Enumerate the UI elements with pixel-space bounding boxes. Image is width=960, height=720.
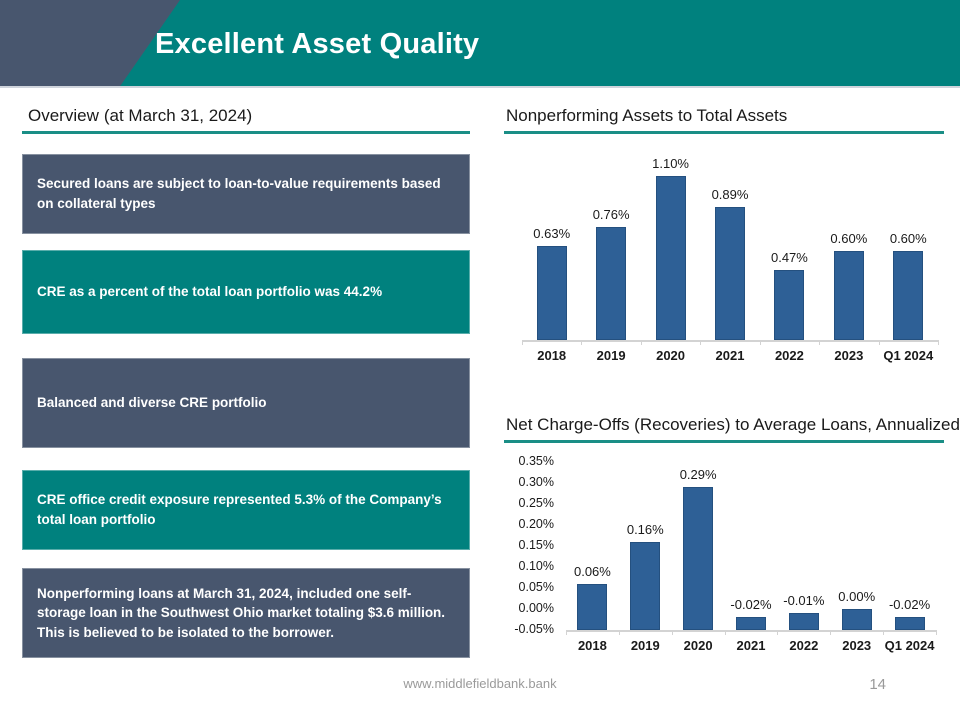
x-axis-category-label: Q1 2024 xyxy=(872,638,948,653)
bar xyxy=(736,617,766,630)
overview-box-5: Nonperforming loans at March 31, 2024, i… xyxy=(22,568,470,658)
npa-chart: 0.63%20180.76%20191.10%20200.89%20210.47… xyxy=(504,140,948,380)
y-axis-tick-label: 0.20% xyxy=(504,517,554,531)
y-axis-tick-label: 0.35% xyxy=(504,454,554,468)
overview-box-1-text: Secured loans are subject to loan-to-val… xyxy=(37,174,455,213)
overview-box-2-text: CRE as a percent of the total loan portf… xyxy=(37,282,382,302)
x-axis-line xyxy=(522,340,938,342)
bar xyxy=(895,617,925,630)
nco-chart-title: Net Charge-Offs (Recoveries) to Average … xyxy=(506,415,960,434)
x-axis-category-label: Q1 2024 xyxy=(870,348,946,363)
y-axis-tick-label: 0.10% xyxy=(504,559,554,573)
bar-value-label: 0.60% xyxy=(870,231,946,246)
bar-value-label: 0.06% xyxy=(554,564,630,579)
footer-page-number: 14 xyxy=(869,676,886,693)
slide-header: Excellent Asset Quality xyxy=(0,0,960,88)
slide-canvas: Excellent Asset Quality Overview(at Marc… xyxy=(0,0,960,720)
y-axis-tick-label: 0.15% xyxy=(504,538,554,552)
overview-box-4-text: CRE office credit exposure represented 5… xyxy=(37,490,455,529)
bar-value-label: 0.76% xyxy=(573,207,649,222)
footer-url[interactable]: www.middlefieldbank.bank xyxy=(0,676,960,691)
overview-heading-subtext: (at March 31, 2024) xyxy=(104,106,252,125)
bar xyxy=(834,251,864,340)
npa-chart-rule xyxy=(504,131,944,134)
overview-rule xyxy=(22,131,470,134)
overview-box-4: CRE office credit exposure represented 5… xyxy=(22,470,470,550)
bar-value-label: 0.89% xyxy=(692,187,768,202)
bar xyxy=(683,487,713,630)
x-axis-tick xyxy=(936,630,937,635)
bar-value-label: 0.29% xyxy=(660,467,736,482)
overview-box-5-text: Nonperforming loans at March 31, 2024, i… xyxy=(37,584,455,643)
bar-value-label: 1.10% xyxy=(633,156,709,171)
bar-value-label: -0.02% xyxy=(872,597,948,612)
overview-box-1: Secured loans are subject to loan-to-val… xyxy=(22,154,470,234)
nco-plot-area: 0.35%0.30%0.25%0.20%0.15%0.10%0.05%0.00%… xyxy=(504,450,948,670)
bar xyxy=(715,207,745,340)
y-axis-tick-label: -0.05% xyxy=(504,622,554,636)
header-accent-shape xyxy=(0,0,180,88)
overview-box-3-text: Balanced and diverse CRE portfolio xyxy=(37,393,267,413)
npa-chart-heading: Nonperforming Assets to Total Assets xyxy=(506,106,787,126)
y-axis-tick-label: 0.00% xyxy=(504,601,554,615)
nco-chart-heading: Net Charge-Offs (Recoveries) to Average … xyxy=(506,415,960,435)
bar xyxy=(596,227,626,340)
y-axis-tick-label: 0.05% xyxy=(504,580,554,594)
y-axis-tick-label: 0.25% xyxy=(504,496,554,510)
bar-value-label: 0.16% xyxy=(607,522,683,537)
bar xyxy=(577,584,607,630)
bar xyxy=(789,613,819,630)
slide-title: Excellent Asset Quality xyxy=(155,0,479,88)
bar xyxy=(893,251,923,340)
overview-heading-text: Overview xyxy=(28,106,99,125)
overview-box-2: CRE as a percent of the total loan portf… xyxy=(22,250,470,334)
bar xyxy=(656,176,686,340)
nco-chart: 0.35%0.30%0.25%0.20%0.15%0.10%0.05%0.00%… xyxy=(504,450,948,670)
x-axis-line xyxy=(566,630,936,632)
bar xyxy=(842,609,872,630)
bar-value-label: 0.63% xyxy=(514,226,590,241)
overview-box-3: Balanced and diverse CRE portfolio xyxy=(22,358,470,448)
header-divider xyxy=(0,86,960,88)
y-axis-tick-label: 0.30% xyxy=(504,475,554,489)
bar-value-label: 0.47% xyxy=(751,250,827,265)
nco-chart-rule xyxy=(504,440,944,443)
x-axis-tick xyxy=(938,340,939,345)
overview-heading: Overview(at March 31, 2024) xyxy=(28,106,252,126)
bar xyxy=(537,246,567,340)
npa-chart-title: Nonperforming Assets to Total Assets xyxy=(506,106,787,125)
bar xyxy=(774,270,804,340)
bar xyxy=(630,542,660,630)
npa-plot-area: 0.63%20180.76%20191.10%20200.89%20210.47… xyxy=(504,140,948,380)
